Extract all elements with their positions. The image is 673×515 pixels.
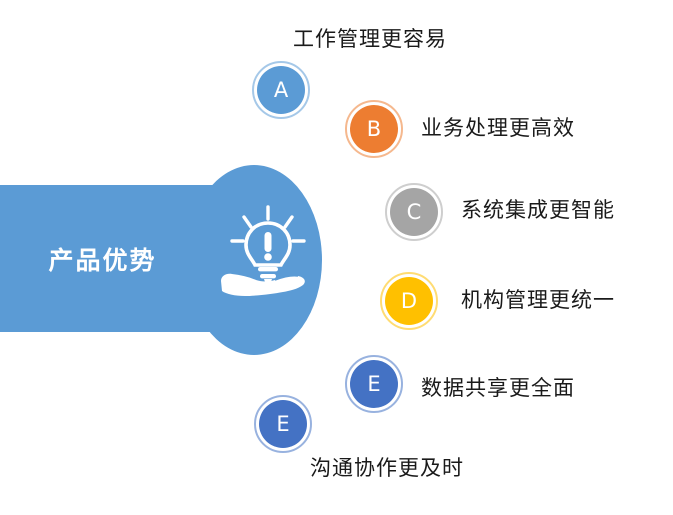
slide-canvas: 产品优势 A <box>0 0 673 515</box>
step-label-f: 沟通协作更及时 <box>310 458 464 479</box>
step-label-b: 业务处理更高效 <box>421 118 575 139</box>
product-advantage-banner: 产品优势 <box>0 160 330 355</box>
step-circle-b[interactable]: B <box>345 100 403 158</box>
step-letter: C <box>407 202 422 223</box>
step-letter: B <box>367 119 381 140</box>
step-circle-e[interactable]: E <box>345 355 403 413</box>
step-label-e: 数据共享更全面 <box>421 378 575 399</box>
step-label-d: 机构管理更统一 <box>461 290 615 311</box>
step-letter: D <box>401 291 417 312</box>
lightbulb-in-hand-icon <box>213 197 323 307</box>
banner-title: 产品优势 <box>0 185 205 332</box>
step-circle-c[interactable]: C <box>385 183 443 241</box>
step-label-c: 系统集成更智能 <box>461 200 615 221</box>
step-circle-d[interactable]: D <box>380 272 438 330</box>
step-circle-f[interactable]: E <box>254 395 312 453</box>
step-letter: E <box>276 414 289 435</box>
step-letter: E <box>367 374 380 395</box>
step-letter: A <box>274 80 288 101</box>
step-label-a: 工作管理更容易 <box>293 29 447 50</box>
step-circle-a[interactable]: A <box>252 61 310 119</box>
